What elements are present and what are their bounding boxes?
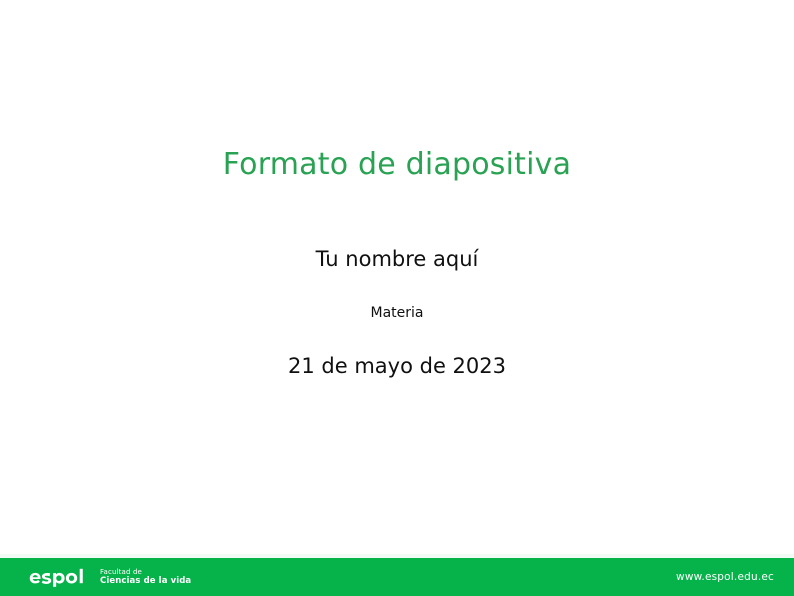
- title-block: Formato de diapositiva: [0, 148, 794, 183]
- footer-website-url[interactable]: www.espol.edu.ec: [676, 558, 774, 596]
- author-name: Tu nombre aquí: [0, 247, 794, 272]
- subject-name: Materia: [0, 305, 794, 322]
- page-title: Formato de diapositiva: [0, 148, 794, 183]
- presentation-date: 21 de mayo de 2023: [0, 354, 794, 379]
- faculty-line-2: Ciencias de la vida: [100, 577, 191, 586]
- footer-branding: Facultad de Ciencias de la vida: [28, 558, 191, 596]
- title-slide: Formato de diapositiva Tu nombre aquí Ma…: [0, 0, 794, 596]
- footer-bar: Facultad de Ciencias de la vida www.espo…: [0, 558, 794, 596]
- espol-logo-icon: [28, 567, 91, 587]
- faculty-name: Facultad de Ciencias de la vida: [100, 568, 191, 586]
